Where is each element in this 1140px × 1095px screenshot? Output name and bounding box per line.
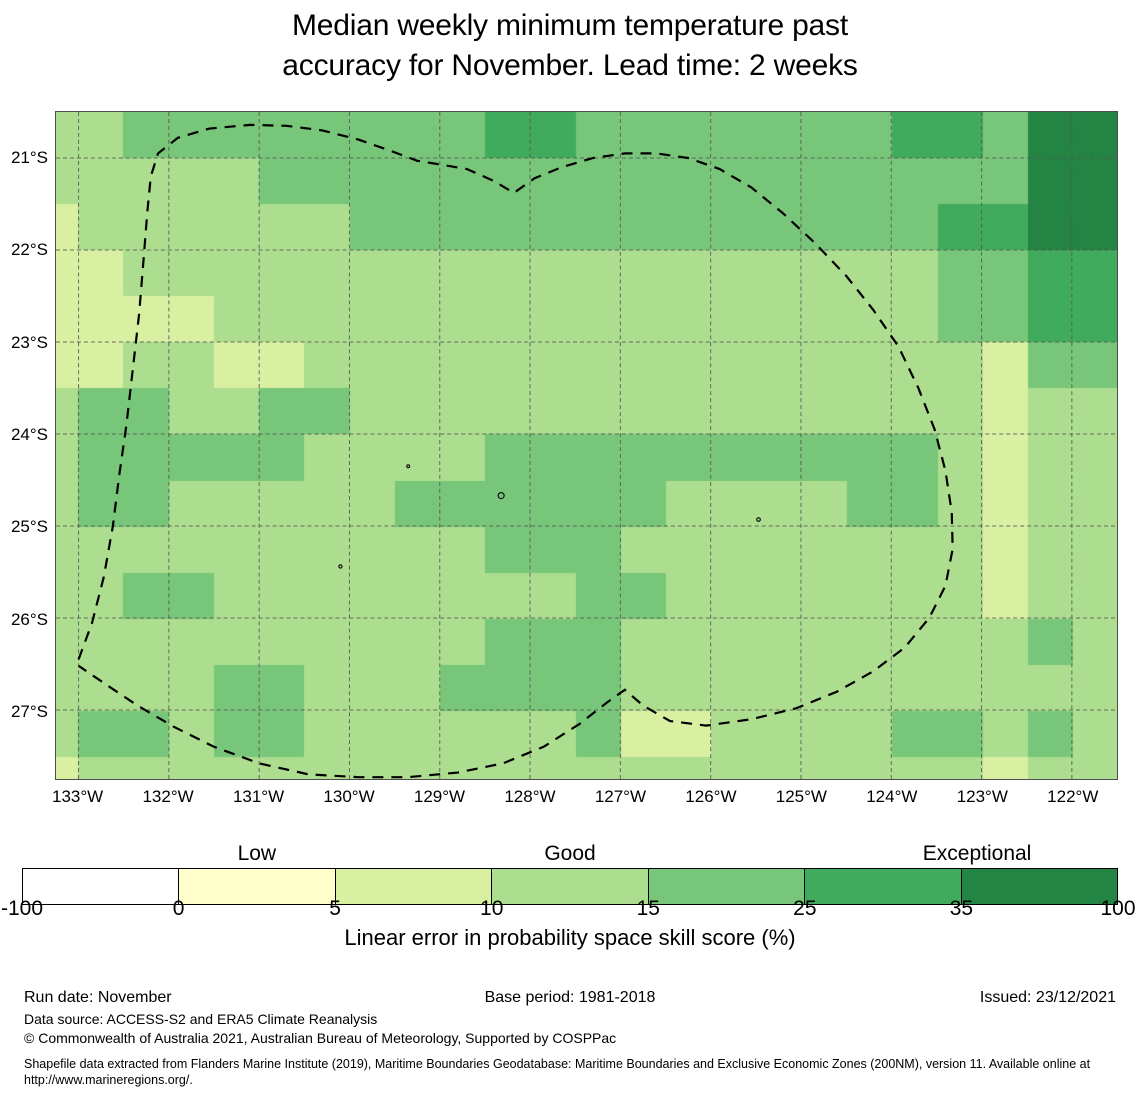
x-axis-tick-label: 127°W xyxy=(575,788,665,805)
base-period-text: Base period: 1981-2018 xyxy=(0,988,1140,1007)
colorbar-tick-label: 35 xyxy=(901,898,1021,919)
y-axis-tick-label: 21°S xyxy=(0,149,48,166)
x-axis-tick-label: 130°W xyxy=(304,788,394,805)
colorbar-tick-label: 10 xyxy=(432,898,552,919)
page-title: Median weekly minimum temperature past a… xyxy=(0,6,1140,86)
y-axis-tick-label: 27°S xyxy=(0,703,48,720)
y-axis-tick-label: 24°S xyxy=(0,426,48,443)
x-axis-tick-label: 125°W xyxy=(756,788,846,805)
y-axis-tick-label: 22°S xyxy=(0,241,48,258)
colorbar-tick-label: 15 xyxy=(588,898,708,919)
colorbar-tick-label: 25 xyxy=(745,898,865,919)
colorbar-tick-label: 0 xyxy=(119,898,239,919)
map-plot-area xyxy=(55,111,1118,780)
colorbar-tick-label: -100 xyxy=(0,898,82,919)
copyright-text: © Commonwealth of Australia 2021, Austra… xyxy=(24,1030,616,1047)
x-axis-tick-label: 128°W xyxy=(485,788,575,805)
x-axis-tick-label: 133°W xyxy=(33,788,123,805)
shapefile-attribution-text: Shapefile data extracted from Flanders M… xyxy=(24,1056,1124,1088)
x-axis-tick-label: 124°W xyxy=(847,788,937,805)
footer-meta-row: Run date: November Base period: 1981-201… xyxy=(0,988,1140,1010)
y-axis-tick-label: 26°S xyxy=(0,611,48,628)
colorbar-category-label: Good xyxy=(450,843,690,864)
skill-score-heatmap xyxy=(56,112,1118,780)
x-axis-tick-label: 132°W xyxy=(123,788,213,805)
y-axis-tick-label: 25°S xyxy=(0,518,48,535)
y-axis-tick-label: 23°S xyxy=(0,334,48,351)
colorbar-axis-label: Linear error in probability space skill … xyxy=(0,926,1140,950)
data-source-text: Data source: ACCESS-S2 and ERA5 Climate … xyxy=(24,1011,377,1028)
colorbar-category-label: Exceptional xyxy=(857,843,1097,864)
x-axis-tick-label: 122°W xyxy=(1028,788,1118,805)
colorbar-tick-label: 5 xyxy=(275,898,395,919)
x-axis-tick-label: 131°W xyxy=(214,788,304,805)
x-axis-tick-label: 123°W xyxy=(937,788,1027,805)
x-axis-tick-label: 126°W xyxy=(666,788,756,805)
colorbar-tick-label: 100 xyxy=(1058,898,1140,919)
x-axis-tick-label: 129°W xyxy=(394,788,484,805)
colorbar-category-label: Low xyxy=(137,843,377,864)
issued-date-text: Issued: 23/12/2021 xyxy=(980,988,1116,1007)
